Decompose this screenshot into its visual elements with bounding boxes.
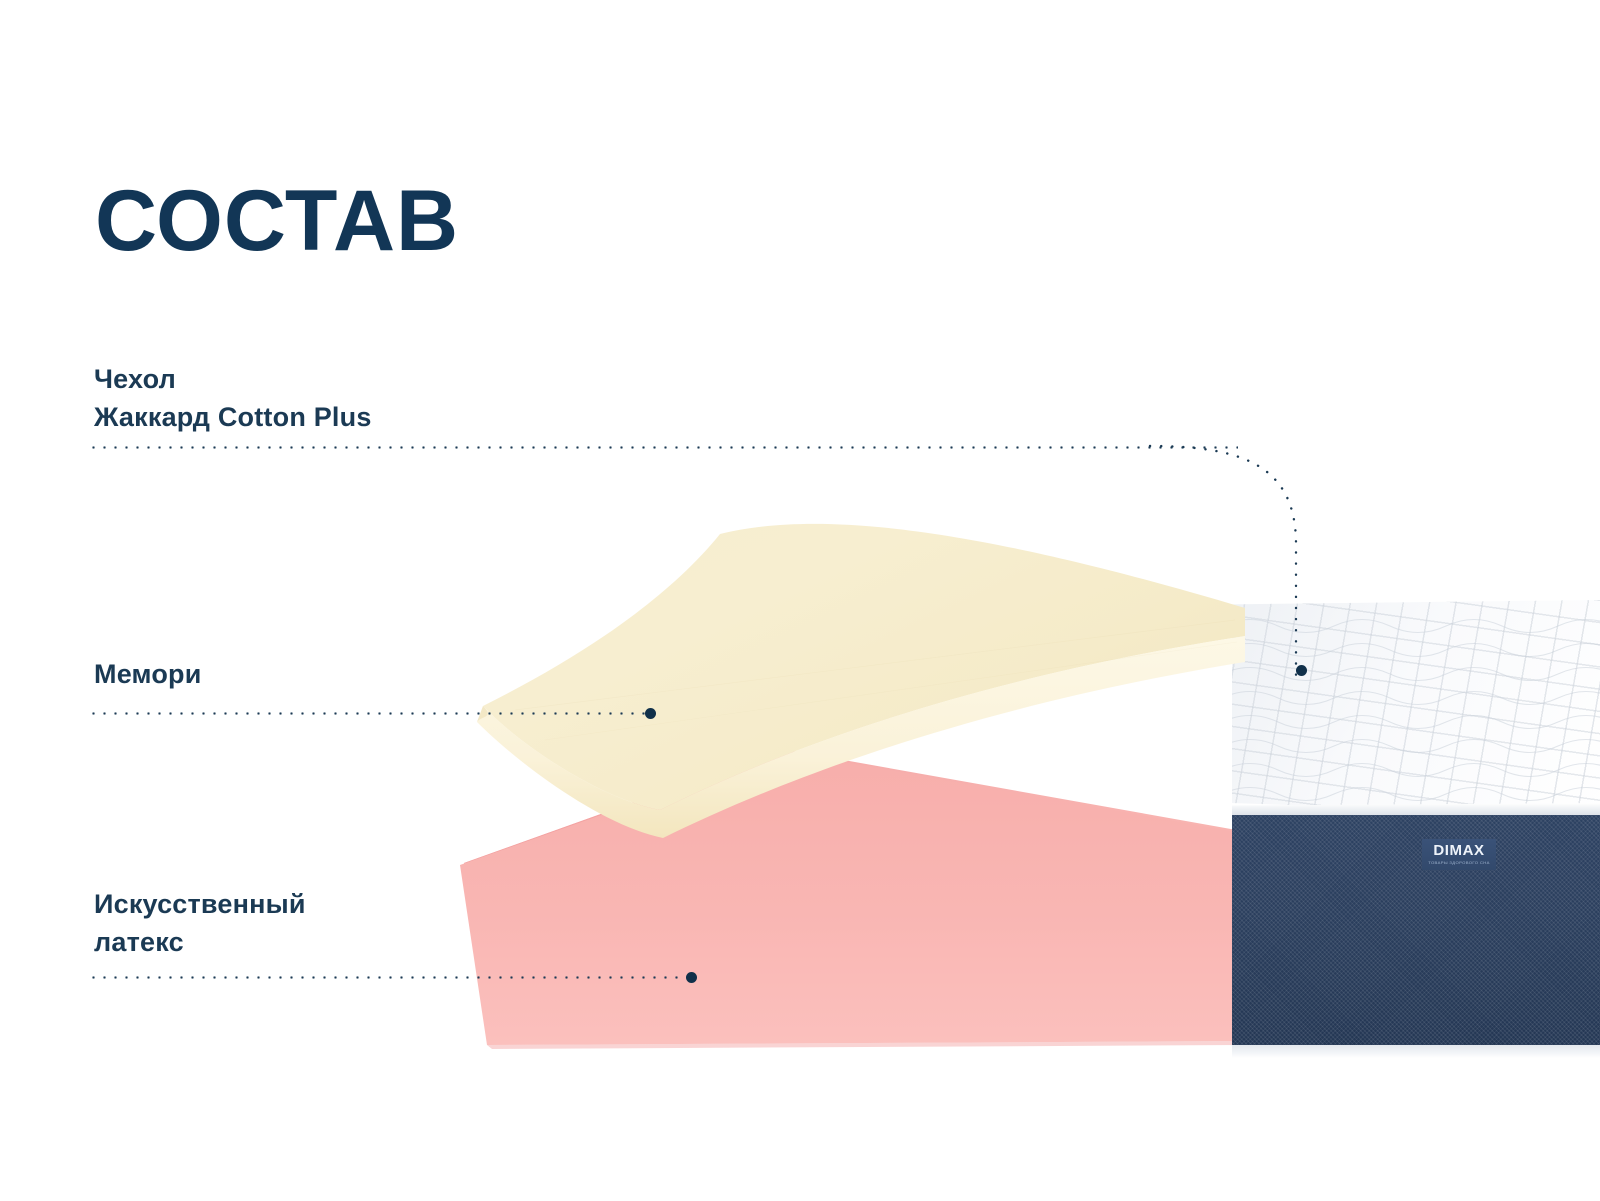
memory-foam-layer-illustration — [455, 510, 1245, 850]
label-cover: Чехол Жаккард Cotton Plus — [94, 360, 372, 437]
mattress-bottom-edge — [1232, 1045, 1600, 1058]
label-memory: Мемори — [94, 655, 202, 693]
mattress-side-band: DIMAX ТОВАРЫ ЗДОРОВОГО СНА — [1232, 815, 1600, 1047]
leader-line-memory — [88, 712, 648, 715]
leader-endpoint-memory — [645, 708, 656, 719]
page-title: СОСТАВ — [95, 178, 459, 264]
leader-line-cover — [88, 446, 1238, 449]
leader-endpoint-latex — [686, 972, 697, 983]
leader-line-latex — [88, 976, 690, 979]
leader-endpoint-cover — [1296, 665, 1307, 676]
dimax-brand-label: DIMAX ТОВАРЫ ЗДОРОВОГО СНА — [1422, 839, 1496, 870]
label-latex: Искусственный латекс — [94, 885, 306, 962]
dimax-tagline: ТОВАРЫ ЗДОРОВОГО СНА — [1428, 861, 1490, 865]
dimax-wordmark: DIMAX — [1433, 843, 1484, 858]
composition-infographic: СОСТАВ — [0, 0, 1600, 1201]
leader-curve-cover — [1150, 440, 1320, 680]
